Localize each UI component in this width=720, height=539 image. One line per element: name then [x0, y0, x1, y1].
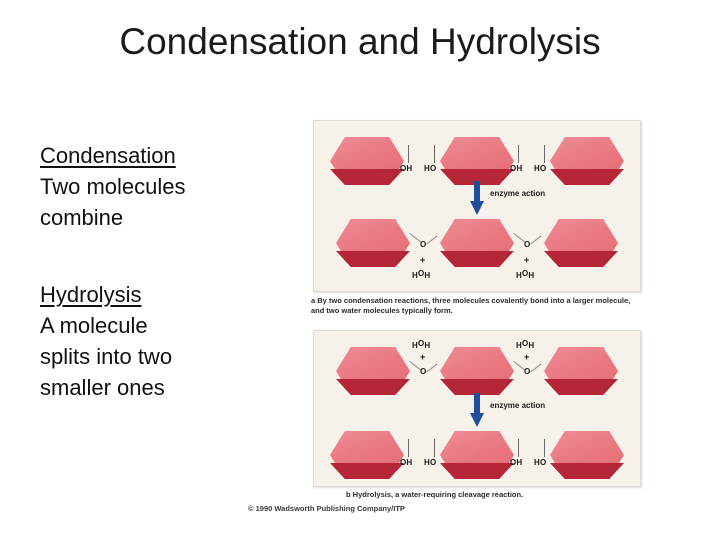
bond-tick: [544, 145, 545, 163]
molecule-hexagon: [440, 347, 514, 395]
molecule-hexagon: [330, 137, 404, 185]
bond-tick: [408, 439, 409, 457]
page-title: Condensation and Hydrolysis: [0, 20, 720, 64]
molecule-hexagon: [440, 137, 514, 185]
molecule-hexagon: [544, 219, 618, 267]
enzyme-action-arrow: [470, 393, 484, 427]
water-h-right: H: [424, 271, 430, 280]
bond-tick: [408, 145, 409, 163]
water-h-right: H: [528, 341, 534, 350]
molecule-hexagon: [330, 431, 404, 479]
water-h-right: H: [424, 341, 430, 350]
label-water: HOH: [412, 339, 430, 350]
bond-tick: [434, 145, 435, 163]
label-oh: OH: [510, 458, 522, 467]
enzyme-action-label: enzyme action: [490, 189, 545, 198]
label-water: HOH: [516, 339, 534, 350]
label-plus: +: [420, 352, 425, 362]
caption-panel-a: a By two condensation reactions, three m…: [311, 296, 641, 316]
label-oh: OH: [400, 164, 412, 173]
molecule-hexagon: [440, 219, 514, 267]
caption-panel-b: b Hydrolysis, a water-requiring cleavage…: [346, 490, 646, 500]
molecule-hexagon: [336, 347, 410, 395]
molecule-hexagon: [336, 219, 410, 267]
bond-line: [530, 235, 542, 244]
water-h-right: H: [528, 271, 534, 280]
label-plus: +: [524, 352, 529, 362]
label-water: HOH: [412, 269, 430, 280]
bond-line: [426, 363, 438, 372]
label-oh: OH: [400, 458, 412, 467]
label-ho: HO: [534, 458, 546, 467]
bond-line: [530, 363, 542, 372]
bond-tick: [434, 439, 435, 457]
label-plus: +: [524, 255, 529, 265]
bond-line: [426, 235, 438, 244]
panel-hydrolysis: HOH HOH + + O O: [313, 330, 641, 487]
label-oh: OH: [510, 164, 522, 173]
panel-condensation: OH HO OH HO enzyme action: [313, 120, 641, 292]
bond-tick: [518, 439, 519, 457]
label-ho: HO: [424, 458, 436, 467]
label-plus: +: [420, 255, 425, 265]
enzyme-action-label: enzyme action: [490, 401, 545, 410]
reaction-figure: OH HO OH HO enzyme action: [248, 118, 648, 526]
label-bridging-oxygen: O: [524, 240, 530, 249]
molecule-hexagon: [550, 431, 624, 479]
label-ho: HO: [534, 164, 546, 173]
label-ho: HO: [424, 164, 436, 173]
molecule-hexagon: [550, 137, 624, 185]
molecule-hexagon: [440, 431, 514, 479]
copyright-notice: © 1990 Wadsworth Publishing Company/ITP: [248, 504, 405, 513]
bond-line: [513, 361, 525, 370]
label-bridging-oxygen: O: [420, 240, 426, 249]
bond-line: [409, 361, 421, 370]
molecule-hexagon: [544, 347, 618, 395]
bond-tick: [518, 145, 519, 163]
enzyme-action-arrow: [470, 181, 484, 215]
bond-tick: [544, 439, 545, 457]
label-water: HOH: [516, 269, 534, 280]
